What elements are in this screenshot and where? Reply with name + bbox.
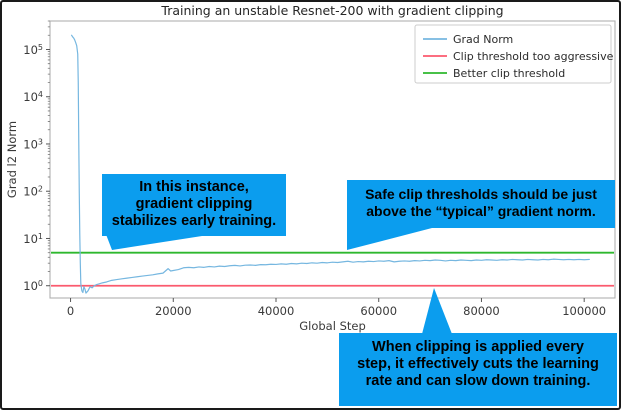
- svg-text:102: 102: [23, 184, 43, 199]
- x-tick-label: 100000: [562, 304, 606, 318]
- x-axis-label: Global Step: [299, 319, 366, 333]
- y-tick-label: 101: [23, 231, 43, 246]
- svg-text:105: 105: [23, 42, 43, 57]
- legend-label-0: Grad Norm: [453, 33, 513, 46]
- x-tick-label: 20000: [155, 304, 192, 318]
- y-tick-label: 100: [23, 279, 43, 294]
- legend-label-2: Better clip threshold: [453, 67, 565, 80]
- x-tick-label: 60000: [360, 304, 397, 318]
- y-tick-label: 105: [23, 42, 43, 57]
- y-tick-label: 102: [23, 184, 43, 199]
- callout-left-training-stabilized: In this instance, gradient clipping stab…: [102, 174, 286, 236]
- svg-text:101: 101: [23, 231, 43, 246]
- callout-mid-safe-thresholds: Safe clip thresholds should be just abov…: [347, 180, 615, 228]
- chart-title: Training an unstable Resnet-200 with gra…: [160, 3, 503, 18]
- x-tick-label: 0: [67, 304, 74, 318]
- y-tick-label: 104: [23, 90, 43, 105]
- chart-figure: 1001011021031041050200004000060000800001…: [0, 0, 621, 410]
- svg-text:103: 103: [23, 137, 43, 152]
- callout-bottom-clipping-slows-training: When clipping is applied every step, it …: [339, 333, 617, 406]
- y-axis-label: Grad l2 Norm: [5, 121, 19, 198]
- svg-text:100: 100: [23, 279, 43, 294]
- x-tick-label: 80000: [463, 304, 500, 318]
- y-tick-label: 103: [23, 137, 43, 152]
- x-tick-label: 40000: [258, 304, 295, 318]
- svg-text:104: 104: [23, 90, 43, 105]
- legend-label-1: Clip threshold too aggressive: [453, 50, 614, 63]
